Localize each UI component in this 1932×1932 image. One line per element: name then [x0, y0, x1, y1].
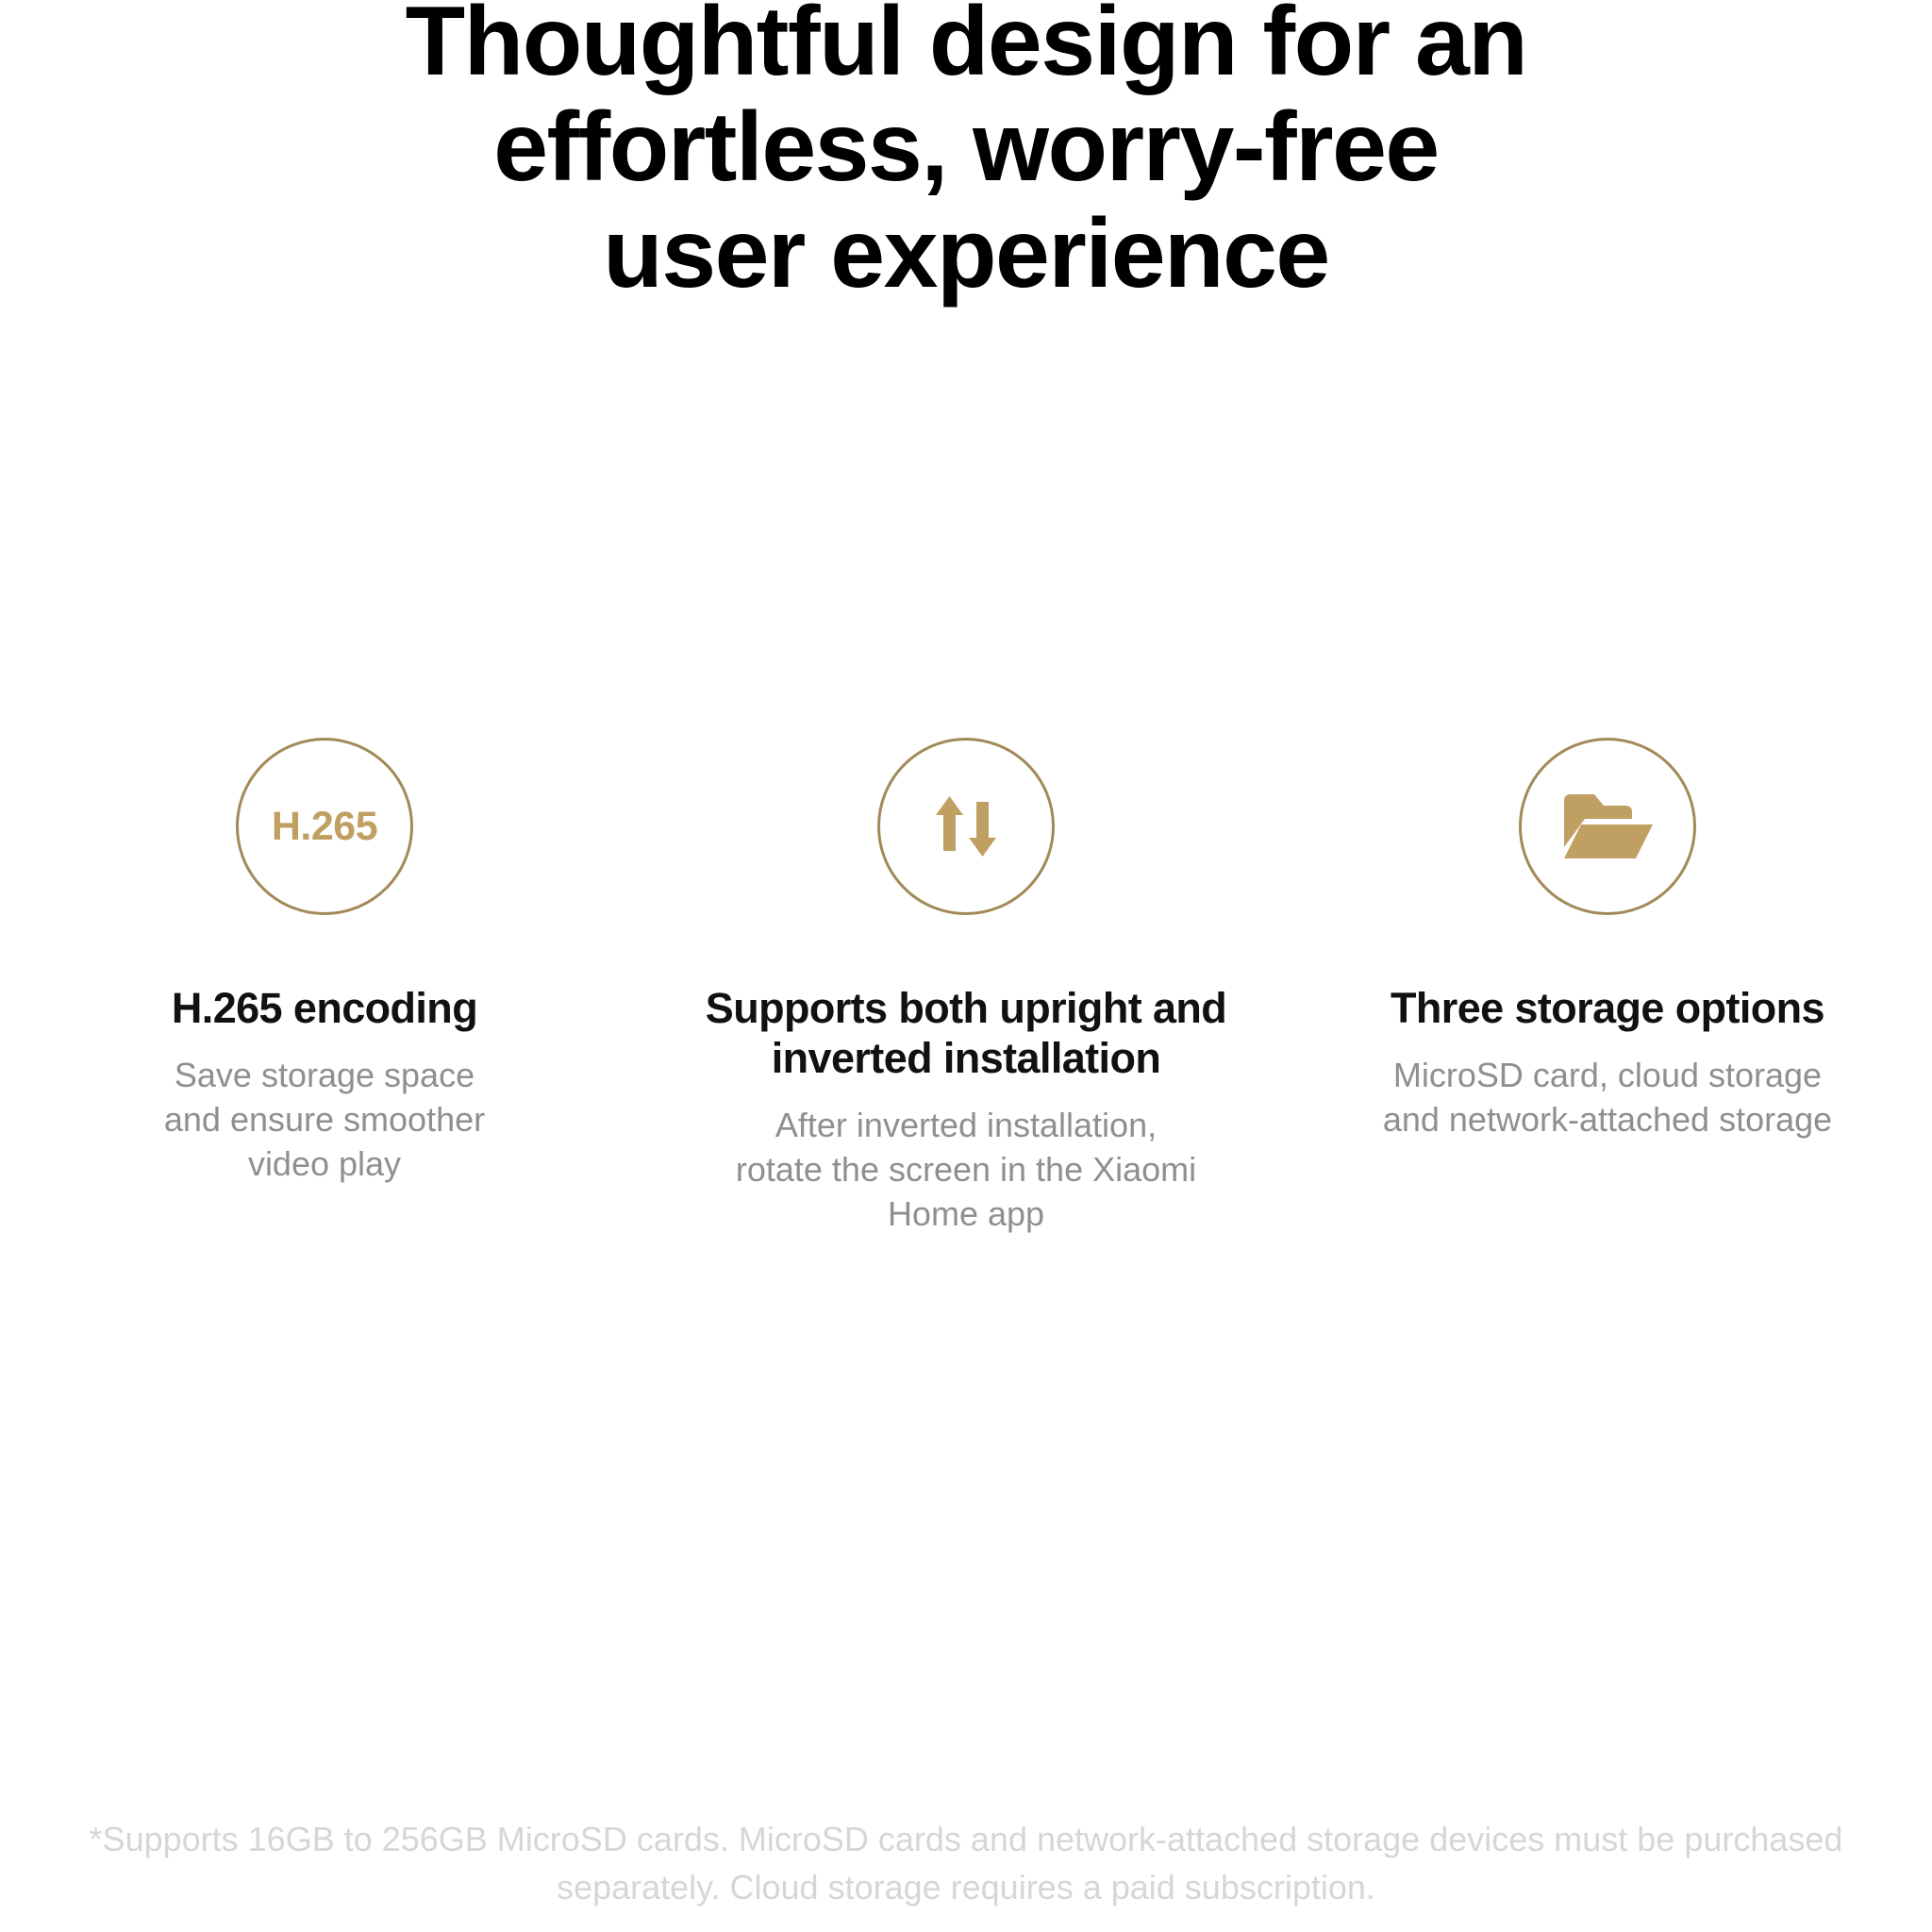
- feature-list: H.265 H.265 encoding Save storage space …: [0, 738, 1932, 1237]
- open-folder-icon: [1519, 738, 1696, 915]
- feature-card-installation: Supports both upright and inverted insta…: [655, 738, 1277, 1237]
- h265-icon-label: H.265: [272, 804, 377, 850]
- feature-title-installation: Supports both upright and inverted insta…: [706, 983, 1226, 1083]
- feature-card-h265: H.265 H.265 encoding Save storage space …: [13, 738, 636, 1186]
- feature-description-h265: Save storage space and ensure smoother v…: [164, 1054, 485, 1186]
- hero-section: Thoughtful design for an effortless, wor…: [0, 0, 1932, 307]
- feature-title-h265: H.265 encoding: [172, 983, 477, 1033]
- marketing-page: Thoughtful design for an effortless, wor…: [0, 0, 1932, 1932]
- up-down-arrows-icon: [877, 738, 1055, 915]
- feature-title-storage: Three storage options: [1391, 983, 1824, 1033]
- feature-card-storage: Three storage options MicroSD card, clou…: [1296, 738, 1919, 1142]
- footnote-text: *Supports 16GB to 256GB MicroSD cards. M…: [0, 1815, 1932, 1911]
- feature-description-storage: MicroSD card, cloud storage and network-…: [1383, 1054, 1832, 1142]
- h265-badge-icon: H.265: [236, 738, 413, 915]
- page-title: Thoughtful design for an effortless, wor…: [0, 0, 1932, 307]
- feature-description-installation: After inverted installation, rotate the …: [736, 1104, 1196, 1236]
